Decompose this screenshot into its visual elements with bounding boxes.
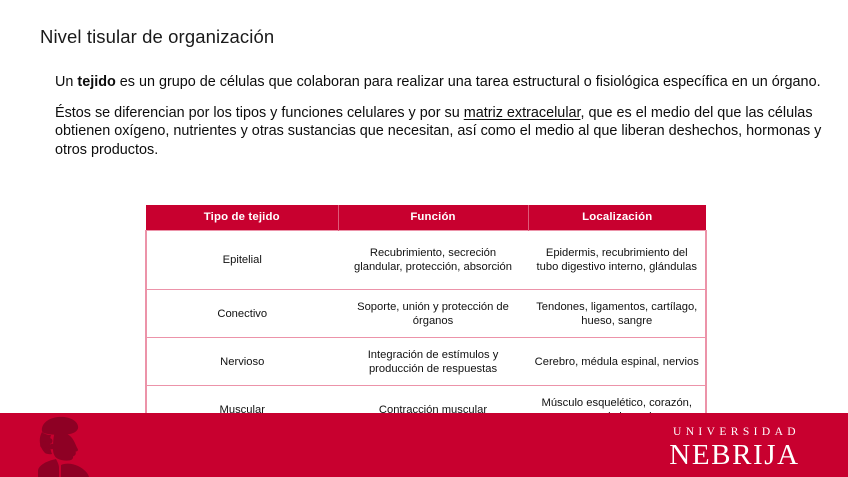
underlined-term: matriz extracelular — [464, 105, 581, 121]
footer-brand-band: UNIVERSIDAD NEBRIJA — [0, 413, 848, 477]
cell-tipo: Epitelial — [146, 231, 338, 290]
cell-funcion: Soporte, unión y protección de órganos — [338, 290, 528, 338]
wordmark-nebrija: NEBRIJA — [669, 440, 800, 471]
column-header-funcion: Función — [338, 205, 528, 231]
cell-localizacion: Epidermis, recubrimiento del tubo digest… — [528, 231, 706, 290]
cell-localizacion: Tendones, ligamentos, cartílago, hueso, … — [528, 290, 706, 338]
table-body: Epitelial Recubrimiento, secreción gland… — [146, 231, 706, 435]
body-text-block: Un tejido es un grupo de células que col… — [55, 73, 830, 159]
table-row: Epitelial Recubrimiento, secreción gland… — [146, 231, 706, 290]
column-header-localizacion: Localización — [528, 205, 706, 231]
paragraph-matriz-extracelular: Éstos se diferencian por los tipos y fun… — [55, 104, 830, 160]
bold-term: tejido — [77, 74, 115, 90]
cell-localizacion: Cerebro, médula espinal, nervios — [528, 338, 706, 386]
table-row: Nervioso Integración de estímulos y prod… — [146, 338, 706, 386]
text-run: Un — [55, 74, 77, 90]
table-header-row: Tipo de tejido Función Localización — [146, 205, 706, 231]
cell-tipo: Nervioso — [146, 338, 338, 386]
text-run: Éstos se diferencian por los tipos y fun… — [55, 105, 464, 121]
paragraph-definicion-tejido: Un tejido es un grupo de células que col… — [55, 73, 830, 92]
column-header-tipo-de-tejido: Tipo de tejido — [146, 205, 338, 231]
table-row: Conectivo Soporte, unión y protección de… — [146, 290, 706, 338]
university-wordmark: UNIVERSIDAD NEBRIJA — [669, 426, 800, 471]
cell-tipo: Conectivo — [146, 290, 338, 338]
cell-funcion: Integración de estímulos y producción de… — [338, 338, 528, 386]
table-header: Tipo de tejido Función Localización — [146, 205, 706, 231]
page-title: Nivel tisular de organización — [40, 26, 274, 48]
text-run: es un grupo de células que colaboran par… — [116, 74, 821, 90]
tissue-types-table: Tipo de tejido Función Localización Epit… — [145, 205, 707, 435]
wordmark-universidad: UNIVERSIDAD — [673, 426, 800, 439]
cell-funcion: Recubrimiento, secreción glandular, prot… — [338, 231, 528, 290]
slide-canvas: Nivel tisular de organización Un tejido … — [0, 0, 848, 477]
scholar-portrait-icon — [28, 413, 94, 477]
